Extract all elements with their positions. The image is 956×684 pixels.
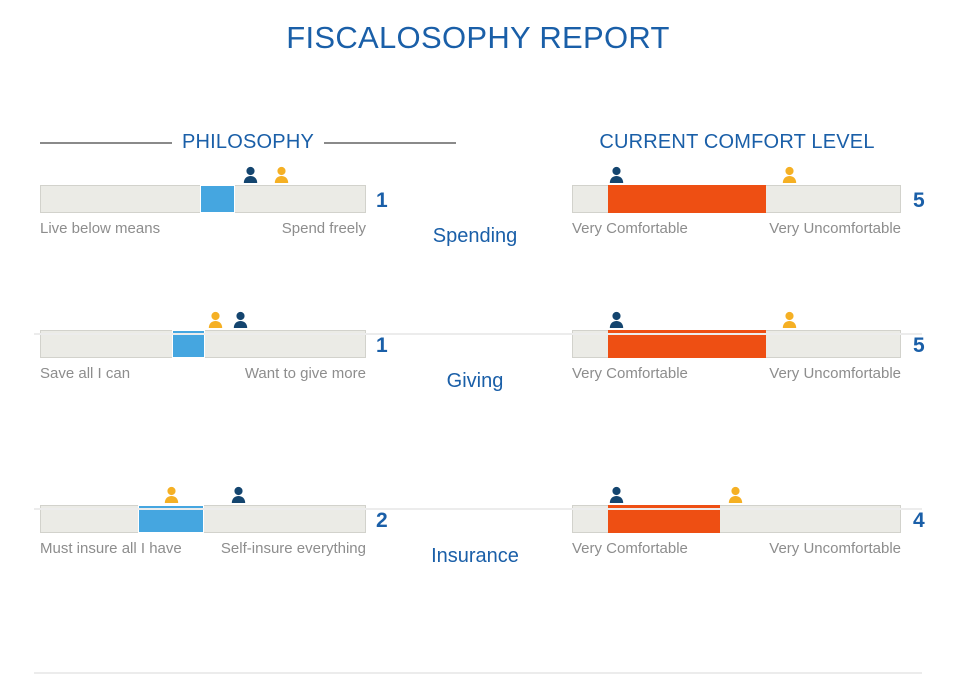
- person-icon-navy: [609, 311, 624, 328]
- insurance-philosophy-block: 2Must insure all I haveSelf-insure every…: [40, 505, 456, 539]
- giving-comfort-block: 5Very ComfortableVery Uncomfortable: [572, 330, 956, 364]
- track-wrap: 5: [572, 185, 956, 213]
- person-marker-gold: [208, 311, 223, 328]
- header-rule-right: [324, 142, 456, 144]
- report-row-insurance: 2Must insure all I haveSelf-insure every…: [0, 505, 956, 670]
- person-marker-gold: [728, 486, 743, 503]
- end-label-right: Very Uncomfortable: [751, 539, 901, 558]
- person-icon-gold: [782, 311, 797, 328]
- end-label-left: Save all I can: [40, 364, 190, 383]
- header-rule-left: [40, 142, 172, 144]
- track-wrap: 1: [40, 185, 456, 213]
- person-marker-gold: [274, 166, 289, 183]
- score-value: 1: [376, 189, 388, 213]
- row-divider-0: [34, 333, 922, 335]
- end-label-right: Self-insure everything: [216, 539, 366, 558]
- end-label-left: Must insure all I have: [40, 539, 190, 558]
- page-title: FISCALOSOPHY REPORT: [0, 20, 956, 56]
- person-marker-navy: [609, 311, 624, 328]
- score-value: 5: [913, 334, 925, 358]
- person-icon-gold: [164, 486, 179, 503]
- bar-track[interactable]: [572, 185, 901, 213]
- column-header-comfort: CURRENT COMFORT LEVEL: [572, 131, 902, 154]
- end-label-right: Spend freely: [216, 219, 366, 238]
- person-icon-navy: [609, 166, 624, 183]
- score-value: 4: [913, 509, 925, 533]
- score-value: 1: [376, 334, 388, 358]
- bar-track[interactable]: [40, 185, 366, 213]
- end-label-left: Very Comfortable: [572, 539, 722, 558]
- person-marker-navy: [233, 311, 248, 328]
- score-value: 5: [913, 189, 925, 213]
- column-header-comfort-label: CURRENT COMFORT LEVEL: [599, 131, 874, 153]
- category-label-spending: Spending: [390, 225, 560, 248]
- column-header-philosophy: PHILOSOPHY: [40, 131, 456, 154]
- row-divider-1: [34, 508, 922, 510]
- category-label-insurance: Insurance: [390, 545, 560, 568]
- bar-fill: [200, 185, 236, 213]
- person-icon-navy: [233, 311, 248, 328]
- end-label-right: Very Uncomfortable: [751, 364, 901, 383]
- person-marker-navy: [231, 486, 246, 503]
- person-icon-gold: [728, 486, 743, 503]
- person-icon-navy: [609, 486, 624, 503]
- person-marker-navy: [243, 166, 258, 183]
- spending-comfort-block: 5Very ComfortableVery Uncomfortable: [572, 185, 956, 219]
- spending-philosophy-block: 1Live below meansSpend freely: [40, 185, 456, 219]
- end-label-right: Very Uncomfortable: [751, 219, 901, 238]
- category-label-giving: Giving: [390, 370, 560, 393]
- insurance-comfort-block: 4Very ComfortableVery Uncomfortable: [572, 505, 956, 539]
- end-label-left: Very Comfortable: [572, 364, 722, 383]
- person-marker-navy: [609, 486, 624, 503]
- bar-fill: [608, 185, 766, 213]
- giving-philosophy-block: 1Save all I canWant to give more: [40, 330, 456, 364]
- score-value: 2: [376, 509, 388, 533]
- person-icon-gold: [274, 166, 289, 183]
- person-marker-navy: [609, 166, 624, 183]
- person-marker-gold: [782, 166, 797, 183]
- end-label-left: Live below means: [40, 219, 190, 238]
- end-label-left: Very Comfortable: [572, 219, 722, 238]
- column-header-philosophy-label: PHILOSOPHY: [182, 131, 314, 154]
- report-row-giving: 1Save all I canWant to give moreGiving5V…: [0, 330, 956, 495]
- person-icon-navy: [243, 166, 258, 183]
- end-label-right: Want to give more: [216, 364, 366, 383]
- person-marker-gold: [164, 486, 179, 503]
- person-icon-gold: [782, 166, 797, 183]
- report-row-spending: 1Live below meansSpend freelySpending5Ve…: [0, 185, 956, 350]
- person-icon-gold: [208, 311, 223, 328]
- person-marker-gold: [782, 311, 797, 328]
- person-icon-navy: [231, 486, 246, 503]
- row-divider-2: [34, 672, 922, 674]
